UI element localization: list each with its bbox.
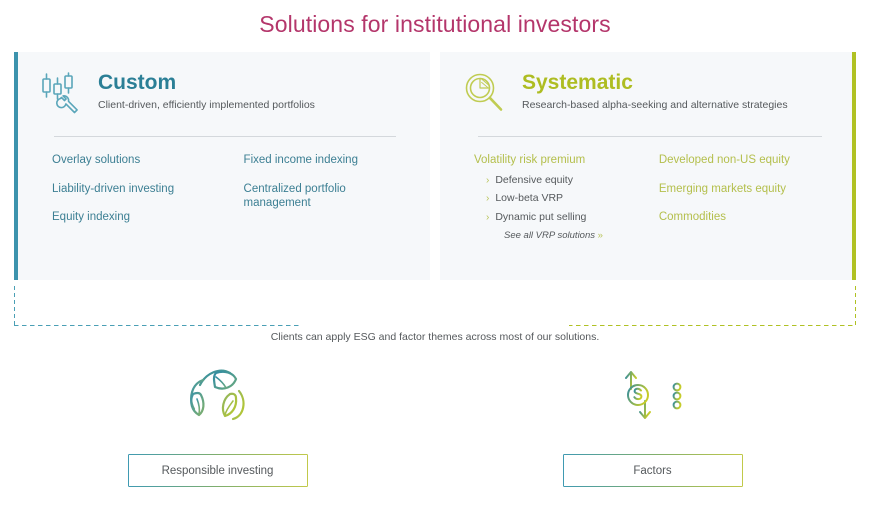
chevron-right-icon: ›: [486, 211, 489, 225]
factors-label: Factors: [633, 465, 671, 477]
responsible-investing-label: Responsible investing: [162, 465, 274, 477]
dollar-arrows-icon: [615, 360, 691, 435]
list-item[interactable]: Emerging markets equity: [659, 182, 834, 197]
card-systematic[interactable]: Systematic Research-based alpha-seeking …: [440, 52, 856, 280]
list-item[interactable]: Developed non-US equity: [659, 153, 834, 168]
theme-factors: Factors: [435, 360, 870, 487]
list-item[interactable]: Volatility risk premium: [474, 153, 659, 168]
card-systematic-column-a: Volatility risk premium › Defensive equi…: [464, 153, 659, 241]
recycle-leaves-icon: [180, 360, 256, 435]
card-custom-columns: Overlay solutions Liability-driven inves…: [40, 153, 408, 239]
card-systematic-columns: Volatility risk premium › Defensive equi…: [464, 153, 834, 241]
see-all-vrp-link[interactable]: See all VRP solutions »: [474, 230, 659, 241]
card-title-systematic: Systematic: [522, 72, 788, 94]
list-item[interactable]: › Defensive equity: [474, 174, 659, 188]
card-divider: [54, 136, 396, 137]
list-item[interactable]: Liability-driven investing: [52, 182, 244, 197]
band-note: Clients can apply ESG and factor themes …: [0, 331, 870, 343]
card-accent-bar-olive: [852, 52, 856, 280]
see-all-vrp-label: See all VRP solutions: [504, 230, 595, 241]
list-item[interactable]: › Low-beta VRP: [474, 192, 659, 206]
list-item[interactable]: Fixed income indexing: [244, 153, 408, 168]
card-header-systematic: Systematic Research-based alpha-seeking …: [464, 70, 834, 114]
theme-responsible-investing: Responsible investing: [0, 360, 435, 487]
list-item-label: Low-beta VRP: [495, 192, 563, 206]
card-header-custom: Custom Client-driven, efficiently implem…: [40, 70, 408, 114]
vrp-subitem-list: › Defensive equity › Low-beta VRP › Dyna…: [474, 174, 659, 225]
list-item-label: Defensive equity: [495, 174, 573, 188]
card-subtitle-custom: Client-driven, efficiently implemented p…: [98, 99, 315, 113]
list-item[interactable]: Commodities: [659, 210, 834, 225]
magnifier-pie-icon: [464, 72, 508, 114]
factors-button[interactable]: Factors: [563, 454, 743, 487]
card-accent-bar-teal: [14, 52, 18, 280]
chevron-right-icon: ›: [486, 192, 489, 206]
page-title: Solutions for institutional investors: [0, 11, 870, 38]
card-custom[interactable]: Custom Client-driven, efficiently implem…: [14, 52, 430, 280]
candlestick-wrench-icon: [40, 72, 84, 114]
list-item[interactable]: Centralized portfolio management: [244, 182, 408, 211]
card-systematic-column-b: Developed non-US equity Emerging markets…: [659, 153, 834, 241]
list-item[interactable]: › Dynamic put selling: [474, 211, 659, 225]
list-item[interactable]: Overlay solutions: [52, 153, 244, 168]
important-to-you-band: What’s important to you?: [14, 286, 856, 326]
solution-cards: Custom Client-driven, efficiently implem…: [14, 52, 856, 280]
card-custom-column-a: Overlay solutions Liability-driven inves…: [40, 153, 244, 239]
chevron-right-icon: ›: [486, 174, 489, 188]
card-divider: [478, 136, 822, 137]
card-title-custom: Custom: [98, 72, 315, 94]
double-chevron-icon: »: [598, 230, 603, 241]
responsible-investing-button[interactable]: Responsible investing: [128, 454, 308, 487]
list-item[interactable]: Equity indexing: [52, 210, 244, 225]
solutions-page: Solutions for institutional investors: [0, 0, 870, 510]
card-subtitle-systematic: Research-based alpha-seeking and alterna…: [522, 99, 788, 113]
card-custom-column-b: Fixed income indexing Centralized portfo…: [244, 153, 408, 239]
list-item-label: Dynamic put selling: [495, 211, 586, 225]
theme-row: Responsible investing: [0, 360, 870, 487]
